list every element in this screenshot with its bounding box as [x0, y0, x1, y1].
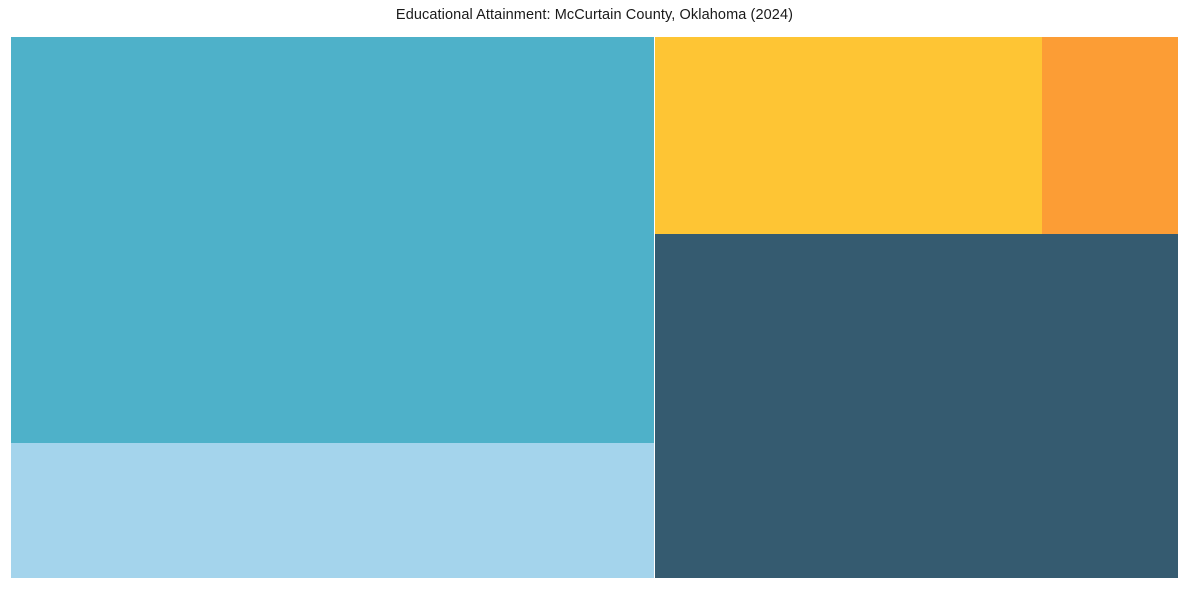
- treemap-figure: Educational Attainment: McCurtain County…: [0, 0, 1189, 590]
- treemap-tile[interactable]: Less than high school diploma: [655, 37, 1042, 234]
- treemap-tile[interactable]: High school graduate (includes equivalen…: [11, 37, 654, 443]
- treemap-tile[interactable]: Bachelor's degree: [655, 234, 1178, 578]
- treemap-tile[interactable]: Some college, no degree: [11, 443, 654, 578]
- treemap-tile[interactable]: Graduate or professional degree: [1042, 37, 1178, 234]
- chart-title: Educational Attainment: McCurtain County…: [0, 6, 1189, 24]
- treemap-plot-area: High school graduate (includes equivalen…: [11, 37, 1178, 578]
